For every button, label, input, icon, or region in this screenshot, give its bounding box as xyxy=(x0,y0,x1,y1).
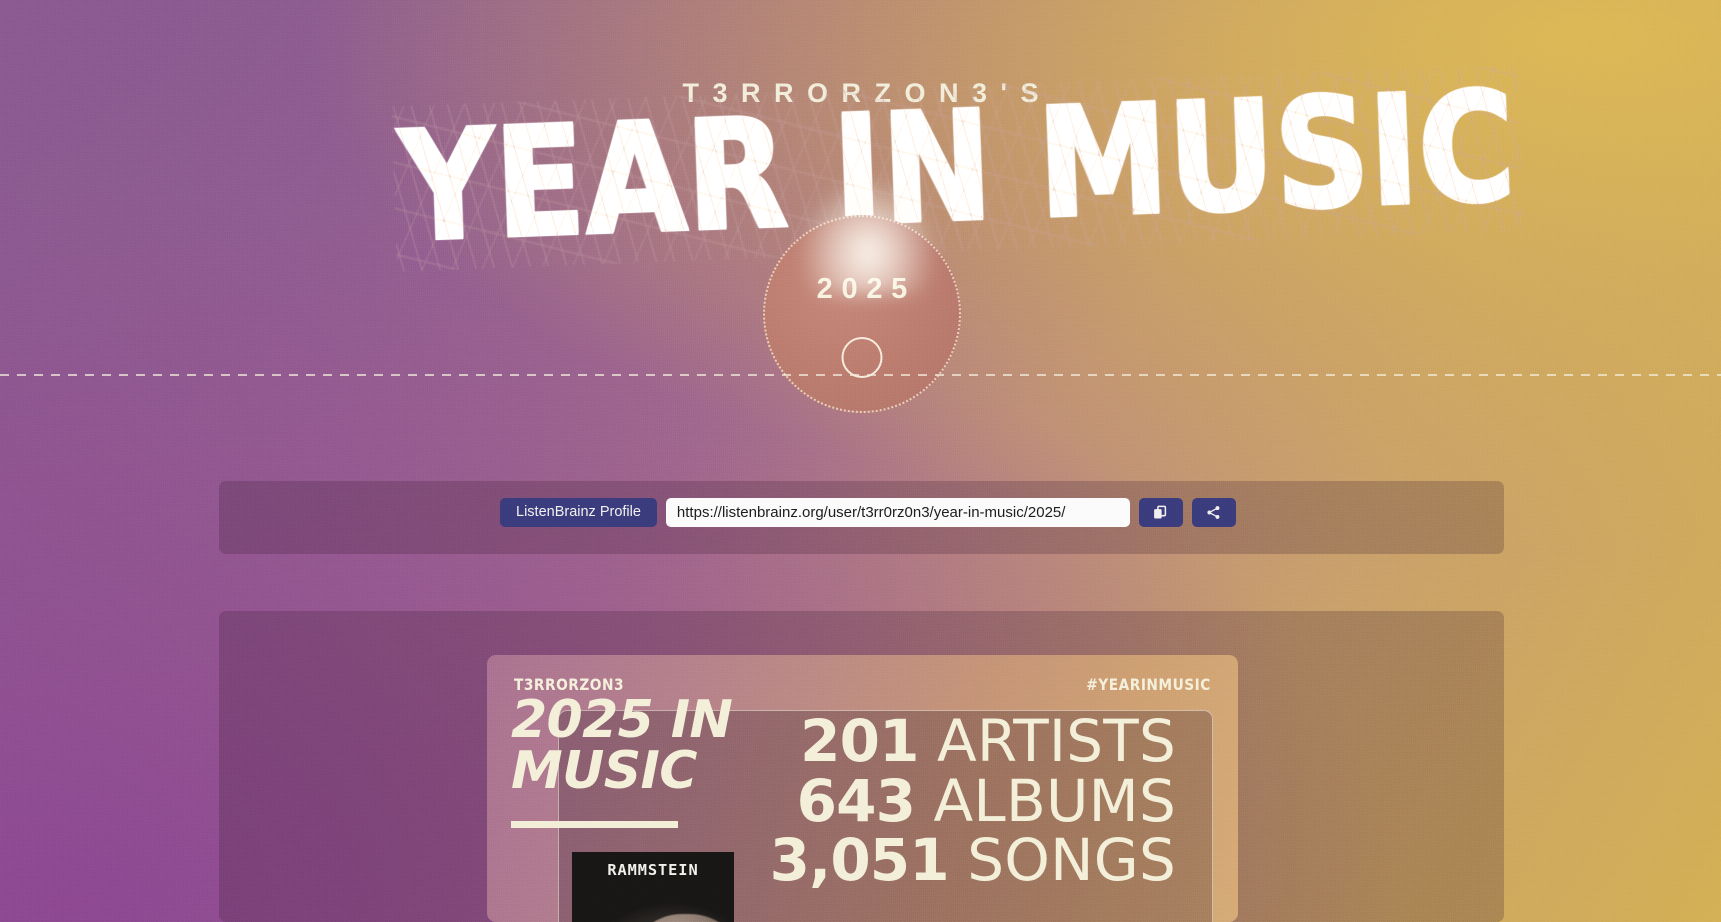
album-cover-thumbnail: RAMMSTEIN xyxy=(572,852,734,922)
share-icon xyxy=(1206,505,1221,520)
stat-row-songs: 3,051 SONGS xyxy=(770,831,1176,891)
share-url-input[interactable] xyxy=(666,498,1130,527)
stat-value-albums: 643 xyxy=(797,767,915,835)
stats-list: 201 ARTISTS 643 ALBUMS 3,051 SONGS xyxy=(770,712,1176,891)
share-panel: ListenBrainz Profile xyxy=(219,481,1504,554)
share-button[interactable] xyxy=(1192,498,1236,527)
stat-label-songs: SONGS xyxy=(967,826,1176,894)
share-controls: ListenBrainz Profile xyxy=(500,498,1236,527)
card-hashtag: #YEARINMUSIC xyxy=(1086,675,1211,694)
year-badge: 2025 xyxy=(763,215,961,413)
year-in-music-share-card: T3RRORZON3 #YEARINMUSIC 2025 IN MUSIC 20… xyxy=(487,655,1238,922)
copy-icon xyxy=(1153,505,1168,520)
badge-circle-icon xyxy=(842,337,883,378)
stats-panel: T3RRORZON3 #YEARINMUSIC 2025 IN MUSIC 20… xyxy=(219,611,1504,922)
stat-label-albums: ALBUMS xyxy=(934,767,1176,835)
stat-row-albums: 643 ALBUMS xyxy=(770,772,1176,832)
year-badge-label: 2025 xyxy=(765,273,959,306)
page-title-text: YEAR IN MUSIC xyxy=(397,73,1517,265)
hero-section: T3RRORZON3'S YEAR IN MUSIC 2025 xyxy=(0,0,1721,480)
stat-row-artists: 201 ARTISTS xyxy=(770,712,1176,772)
stat-value-songs: 3,051 xyxy=(770,826,949,894)
card-headline: 2025 IN MUSIC xyxy=(511,695,751,797)
copy-button[interactable] xyxy=(1139,498,1183,527)
listenbrainz-profile-button[interactable]: ListenBrainz Profile xyxy=(500,498,657,527)
stat-label-artists: ARTISTS xyxy=(937,707,1176,775)
album-cover-band-name: RAMMSTEIN xyxy=(572,861,734,879)
card-headline-rule xyxy=(511,821,678,828)
stat-value-artists: 201 xyxy=(800,707,918,775)
dashed-divider xyxy=(0,374,1721,376)
